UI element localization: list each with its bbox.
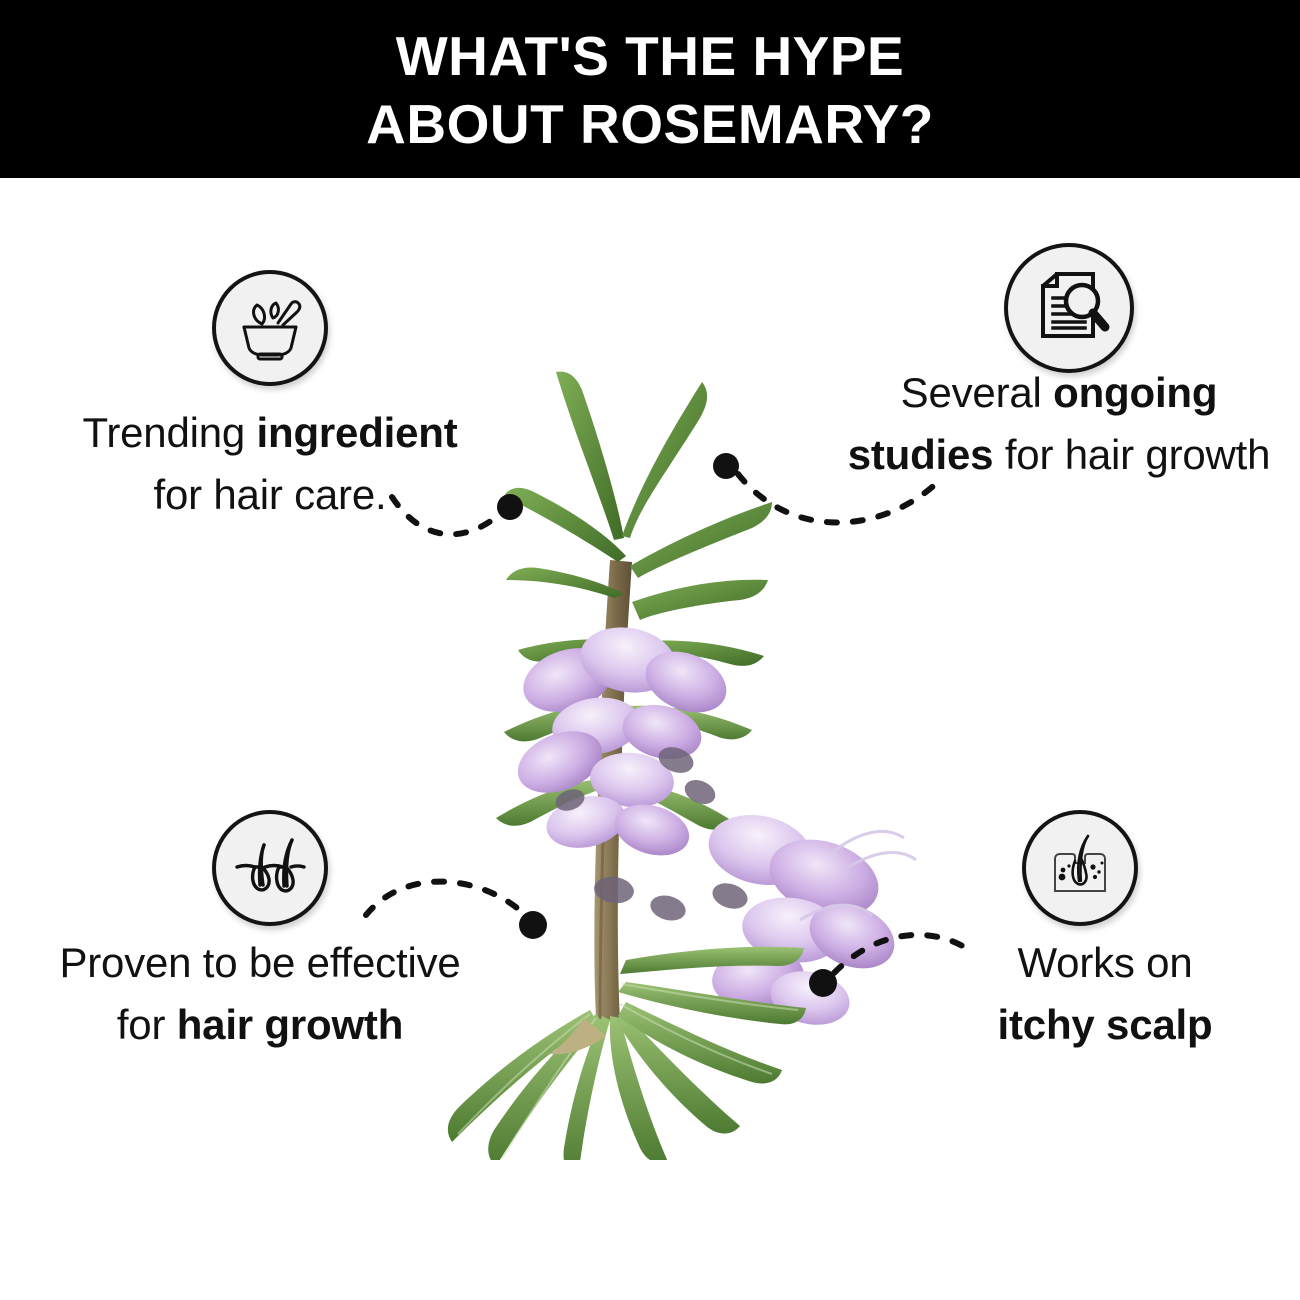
page-title: WHAT'S THE HYPE ABOUT ROSEMARY? <box>0 22 1300 158</box>
caption-itchy-scalp: Works on itchy scalp <box>940 932 1270 1056</box>
caption-proven-hair-growth: Proven to be effective for hair growth <box>10 932 510 1056</box>
infographic-poster: WHAT'S THE HYPE ABOUT ROSEMARY? <box>0 0 1300 1300</box>
caption-text-plain: Proven to be effective <box>59 939 460 986</box>
caption-text-plain: Works on <box>1017 939 1192 986</box>
caption-line-2: for hair care. <box>30 464 510 526</box>
caption-line-1: Works on <box>940 932 1270 994</box>
caption-text-plain: Several <box>901 369 1053 416</box>
badge-proven-hair-growth[interactable] <box>212 810 328 926</box>
caption-text-plain-2: for <box>117 1001 177 1048</box>
caption-text-plain-2: for hair growth <box>993 431 1270 478</box>
caption-line-2: for hair growth <box>10 994 510 1056</box>
page-title-line-2: ABOUT ROSEMARY? <box>0 90 1300 158</box>
badge-ongoing-studies[interactable] <box>1004 243 1134 373</box>
caption-text-plain: Trending <box>82 409 256 456</box>
caption-line-2: studies for hair growth <box>818 424 1300 486</box>
scalp-follicle-flakes-icon <box>1041 829 1119 907</box>
caption-text-plain-2: for hair care. <box>154 471 387 518</box>
caption-text-bold: ongoing <box>1053 369 1217 416</box>
hair-follicles-icon <box>231 829 309 907</box>
mortar-pestle-icon <box>233 291 307 365</box>
caption-ongoing-studies: Several ongoing studies for hair growth <box>818 362 1300 486</box>
page-title-line-1: WHAT'S THE HYPE <box>0 22 1300 90</box>
caption-text-bold-2: itchy scalp <box>998 1001 1213 1048</box>
caption-text-bold: ingredient <box>257 409 458 456</box>
badge-itchy-scalp[interactable] <box>1022 810 1138 926</box>
badge-trending-ingredient[interactable] <box>212 270 328 386</box>
caption-text-bold-2: studies <box>848 431 994 478</box>
document-magnifier-icon <box>1027 266 1111 350</box>
caption-text-bold-2: hair growth <box>177 1001 403 1048</box>
caption-trending-ingredient: Trending ingredient for hair care. <box>30 402 510 526</box>
caption-line-1: Trending ingredient <box>30 402 510 464</box>
caption-line-2: itchy scalp <box>940 994 1270 1056</box>
caption-line-1: Several ongoing <box>818 362 1300 424</box>
caption-line-1: Proven to be effective <box>10 932 510 994</box>
